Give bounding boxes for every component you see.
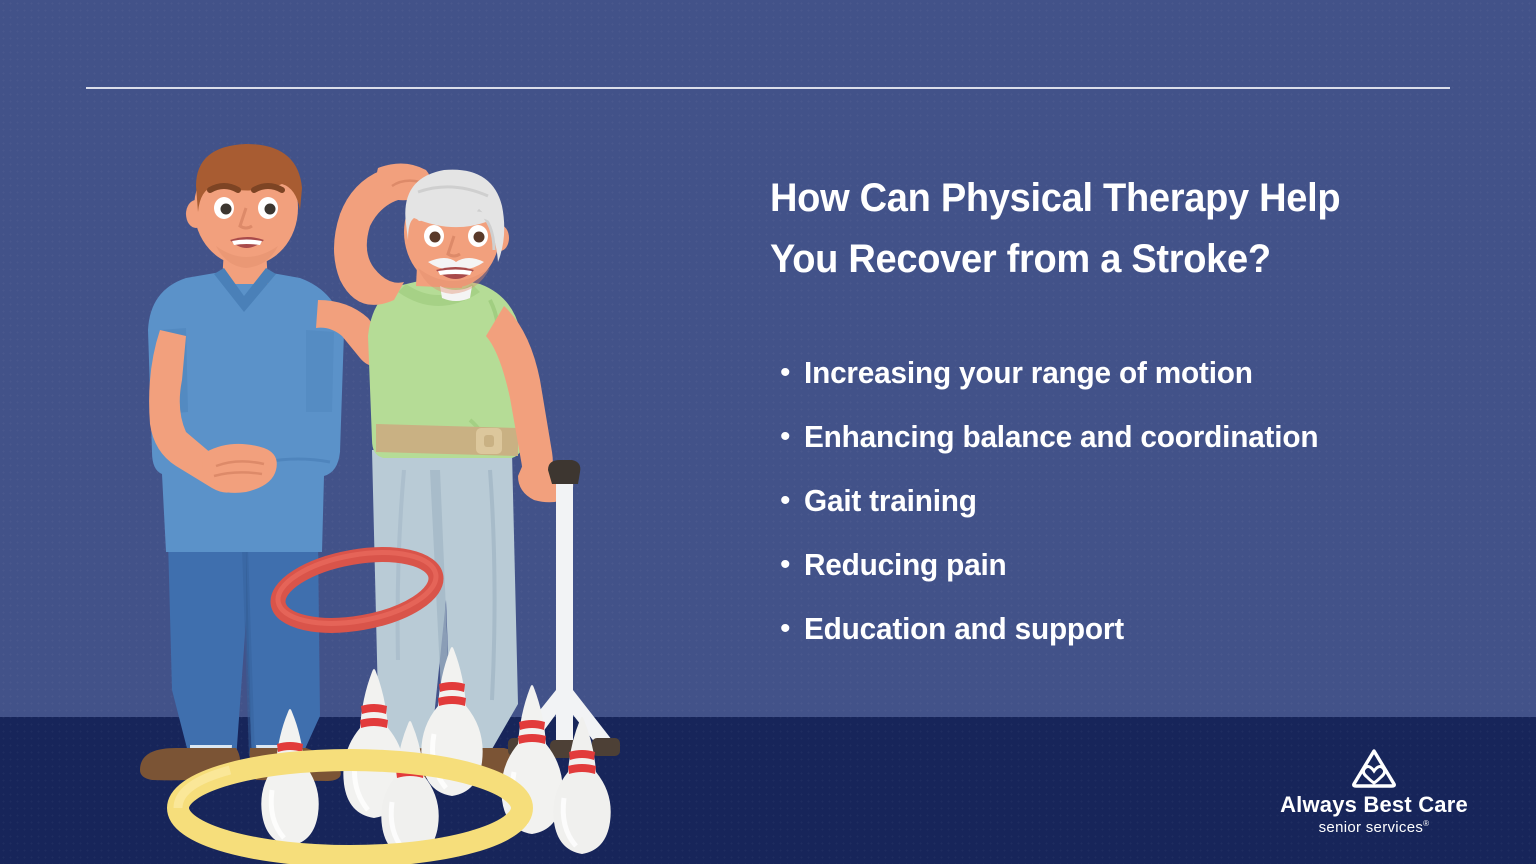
logo-brand-name: Always Best Care — [1274, 793, 1474, 817]
benefits-list: • Increasing your range of motion • Enha… — [770, 352, 1490, 650]
header-divider-rule — [86, 87, 1450, 89]
list-item-label: Gait training — [804, 480, 977, 522]
bullet-marker-icon: • — [770, 608, 804, 650]
bullet-marker-icon: • — [770, 480, 804, 522]
list-item: • Education and support — [770, 608, 1490, 650]
list-item: • Increasing your range of motion — [770, 352, 1490, 394]
logo-tagline-text: senior services — [1319, 819, 1424, 836]
bullet-marker-icon: • — [770, 352, 804, 394]
brand-logo: Always Best Care senior services® — [1274, 747, 1474, 836]
cane-grip — [548, 460, 580, 484]
list-item: • Enhancing balance and coordination — [770, 416, 1490, 458]
list-item-label: Reducing pain — [804, 544, 1007, 586]
list-item: • Reducing pain — [770, 544, 1490, 586]
content-column: How Can Physical Therapy Help You Recove… — [770, 168, 1490, 672]
list-item-label: Education and support — [804, 608, 1124, 650]
bullet-marker-icon: • — [770, 544, 804, 586]
triangle-heart-icon — [1349, 747, 1399, 789]
cane-foot-right — [592, 738, 620, 756]
registered-trademark-icon: ® — [1423, 819, 1429, 828]
caregiver-and-senior-therapy-illustration — [0, 0, 700, 864]
logo-tagline: senior services® — [1274, 819, 1474, 836]
bullet-marker-icon: • — [770, 416, 804, 458]
infographic-canvas: How Can Physical Therapy Help You Recove… — [0, 0, 1536, 864]
list-item-label: Increasing your range of motion — [804, 352, 1253, 394]
list-item: • Gait training — [770, 480, 1490, 522]
page-title: How Can Physical Therapy Help You Recove… — [770, 168, 1454, 290]
list-item-label: Enhancing balance and coordination — [804, 416, 1318, 458]
